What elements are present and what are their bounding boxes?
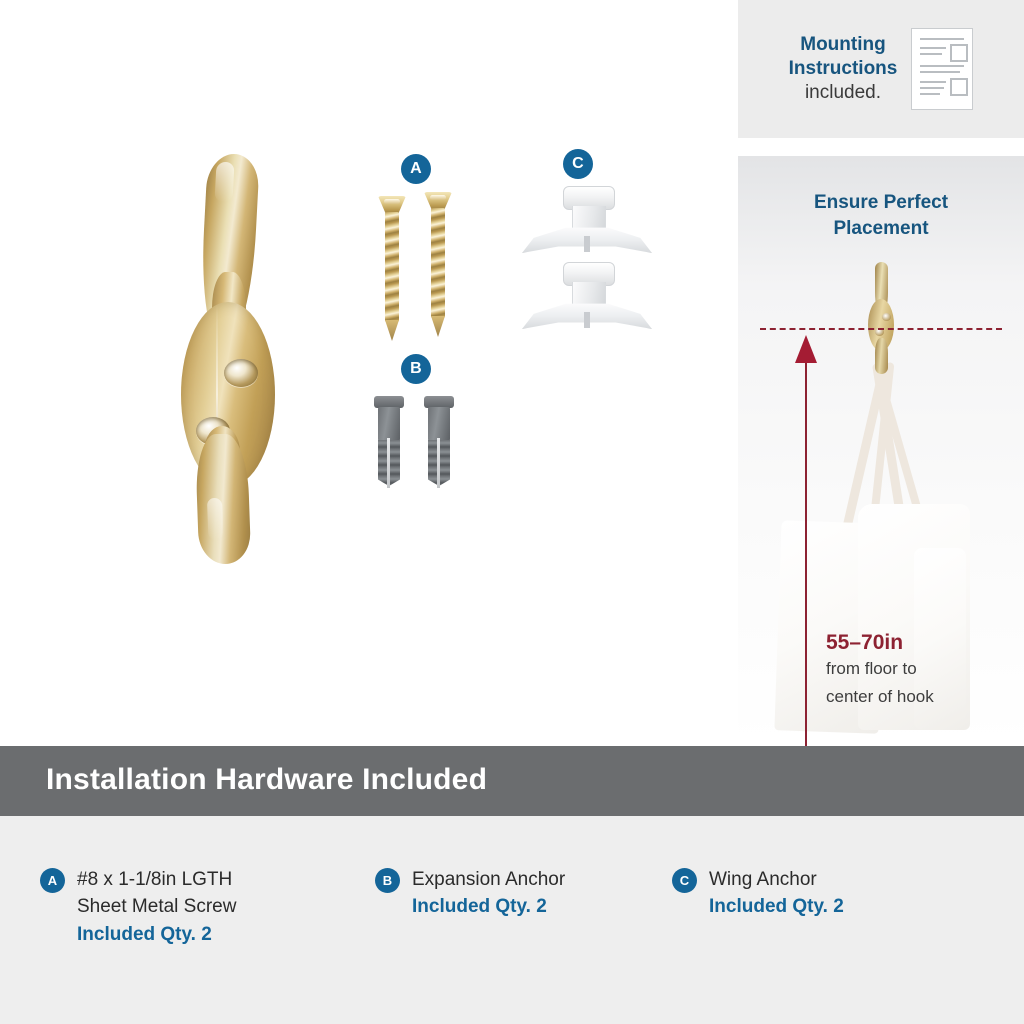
- screw-image: [424, 192, 452, 337]
- placement-title: Ensure Perfect Placement: [738, 190, 1024, 241]
- legend-text-b: Expansion Anchor Included Qty. 2: [412, 866, 565, 921]
- mounting-line-1: Mounting: [789, 33, 898, 57]
- anchor-slot: [387, 438, 390, 488]
- placement-panel: Ensure Perfect Placement 55–70in from fl…: [738, 156, 1024, 746]
- hook-screw-hole-upper: [224, 359, 258, 387]
- measurement-value: 55–70in: [826, 631, 1016, 655]
- hardware-legend: A #8 x 1-1/8in LGTH Sheet Metal Screw In…: [0, 816, 1024, 1024]
- wing-anchor-midline: [584, 312, 590, 328]
- callout-badge-c: C: [563, 149, 593, 179]
- anchor-body: [428, 407, 450, 441]
- infographic-canvas: A B C: [0, 0, 1024, 1024]
- placement-title-line-1: Ensure Perfect: [738, 190, 1024, 216]
- installation-banner: Installation Hardware Included: [0, 746, 1024, 816]
- legend-item-c: C Wing Anchor Included Qty. 2: [672, 866, 844, 921]
- mounting-instructions-text: Mounting Instructions included.: [789, 33, 898, 106]
- legend-c-quantity: Included Qty. 2: [709, 893, 844, 920]
- center-guide-dashed-line: [760, 328, 1002, 330]
- mounting-line-2: Instructions: [789, 57, 898, 81]
- screw-tip: [431, 316, 445, 337]
- legend-badge-a: A: [40, 868, 65, 893]
- legend-b-quantity: Included Qty. 2: [412, 893, 565, 920]
- wall-hook-product-image: [168, 152, 288, 562]
- screw-tip: [385, 320, 399, 341]
- mounted-hook-illustration: [866, 262, 896, 372]
- expansion-anchor-image: [374, 396, 404, 496]
- expansion-anchor-image: [424, 396, 454, 496]
- screw-image: [378, 196, 406, 341]
- measurement-caption-line-2: center of hook: [826, 683, 1016, 711]
- wing-anchor-image: [522, 262, 652, 340]
- legend-item-b: B Expansion Anchor Included Qty. 2: [375, 866, 565, 921]
- legend-text-a: #8 x 1-1/8in LGTH Sheet Metal Screw Incl…: [77, 866, 236, 948]
- legend-c-desc-line-1: Wing Anchor: [709, 866, 844, 893]
- anchor-slot: [437, 438, 440, 488]
- height-arrow-head: [795, 335, 817, 363]
- measurement-caption-line-1: from floor to: [826, 655, 1016, 683]
- document-icon: [911, 28, 973, 110]
- wing-anchor-image: [522, 186, 652, 264]
- legend-a-desc-line-2: Sheet Metal Screw: [77, 893, 236, 920]
- mini-hook-lower-prong: [875, 338, 888, 374]
- mounting-line-3: included.: [789, 81, 898, 105]
- legend-badge-b: B: [375, 868, 400, 893]
- legend-a-desc-line-1: #8 x 1-1/8in LGTH: [77, 866, 236, 893]
- legend-item-a: A #8 x 1-1/8in LGTH Sheet Metal Screw In…: [40, 866, 236, 948]
- height-arrow-stem: [805, 360, 807, 750]
- measurement-callout: 55–70in from floor to center of hook: [826, 631, 1016, 710]
- legend-a-quantity: Included Qty. 2: [77, 921, 236, 948]
- mounting-instructions-panel: Mounting Instructions included.: [738, 0, 1024, 138]
- screw-shank: [431, 208, 445, 318]
- product-image-area: A B C: [0, 0, 730, 746]
- callout-badge-a: A: [401, 154, 431, 184]
- mini-hook-hole-upper: [882, 313, 891, 321]
- wing-anchor-midline: [584, 236, 590, 252]
- legend-text-c: Wing Anchor Included Qty. 2: [709, 866, 844, 921]
- legend-badge-c: C: [672, 868, 697, 893]
- screw-shank: [385, 212, 399, 322]
- banner-title: Installation Hardware Included: [46, 763, 487, 797]
- legend-b-desc-line-1: Expansion Anchor: [412, 866, 565, 893]
- anchor-body: [378, 407, 400, 441]
- callout-badge-b: B: [401, 354, 431, 384]
- placement-title-line-2: Placement: [738, 216, 1024, 242]
